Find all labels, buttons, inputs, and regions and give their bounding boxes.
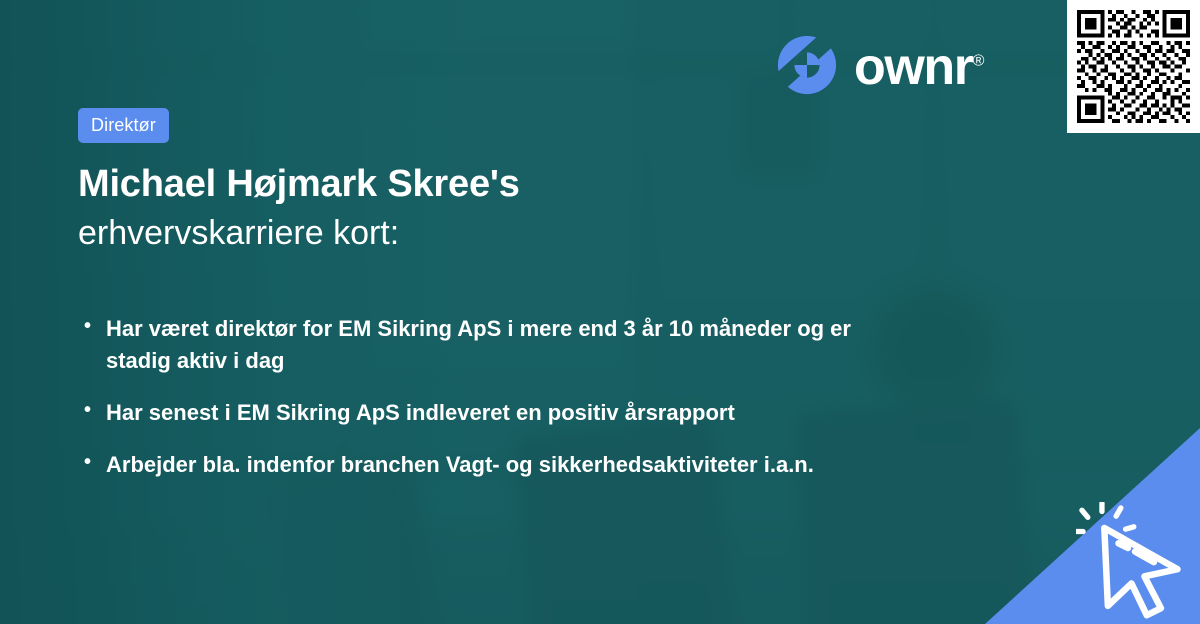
qr-code-icon	[1077, 10, 1190, 123]
highlights-list: Har været direktør for EM Sikring ApS i …	[78, 313, 908, 481]
ownr-wordmark: ownr®	[854, 41, 984, 93]
qr-code[interactable]	[1067, 0, 1200, 133]
registered-trademark-icon: ®	[973, 53, 985, 70]
page-title: Michael Højmark Skree's	[78, 164, 958, 206]
list-item: Har senest i EM Sikring ApS indleveret e…	[78, 397, 908, 429]
list-item: Har været direktør for EM Sikring ApS i …	[78, 313, 908, 377]
career-card: ownr®	[0, 0, 1200, 624]
page-subtitle: erhvervskarriere kort:	[78, 214, 958, 253]
click-cursor-icon	[1076, 502, 1194, 620]
corner-accent	[985, 428, 1200, 624]
list-item: Arbejder bla. indenfor branchen Vagt- og…	[78, 449, 908, 481]
wordmark-text: ownr	[854, 38, 973, 96]
card-content: Direktør Michael Højmark Skree's erhverv…	[78, 108, 958, 500]
role-badge: Direktør	[78, 108, 169, 143]
ownr-logo[interactable]: ownr®	[776, 34, 984, 96]
ownr-logomark-icon	[776, 34, 838, 96]
